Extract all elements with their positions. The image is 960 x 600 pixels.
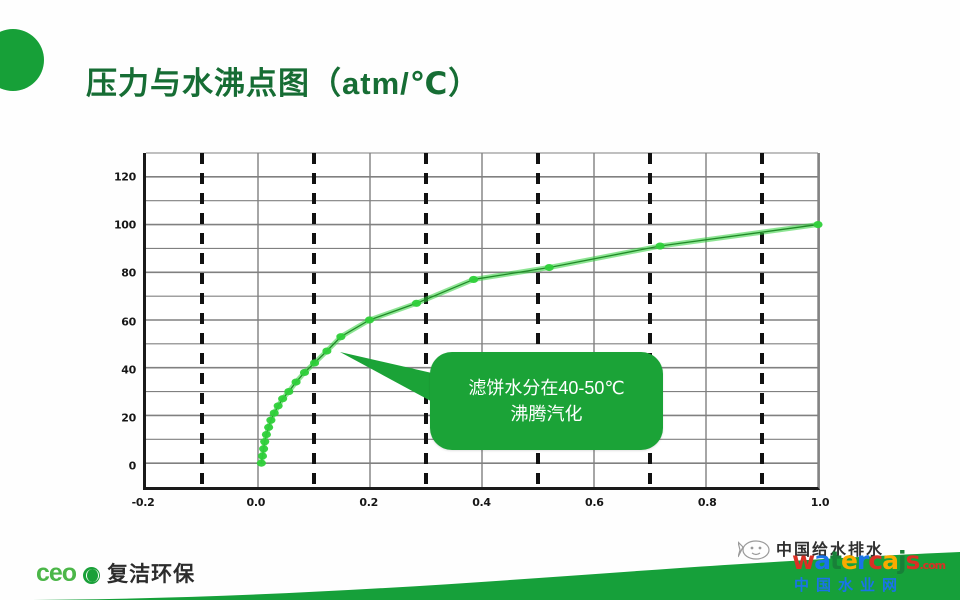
- data-point: [310, 359, 319, 366]
- x-tick-label: 0.0: [247, 496, 266, 509]
- data-point: [266, 417, 275, 424]
- x-tick-label: 0.2: [359, 496, 378, 509]
- data-point: [284, 388, 293, 395]
- y-tick-label: 0: [129, 459, 136, 472]
- annotation-callout: 滤饼水分在40-50℃ 沸腾汽化: [430, 352, 663, 450]
- header-accent-dot: [0, 29, 44, 91]
- x-axis-labels: -0.20.00.20.40.60.81.0: [143, 496, 820, 518]
- data-point: [257, 460, 266, 467]
- watermark-subtitle: 中国水业网: [794, 574, 904, 595]
- mascot-icon: [738, 538, 772, 560]
- watermark-logotype: watercajs.com: [792, 546, 945, 575]
- watermark-letter: t: [830, 546, 841, 575]
- y-tick-label: 60: [121, 315, 136, 328]
- data-point: [545, 264, 554, 271]
- y-tick-label: 80: [121, 267, 136, 280]
- y-axis-labels: 020406080100120: [92, 153, 136, 490]
- watermark-domain: .com: [919, 559, 945, 572]
- logo-mark-text: ceo: [36, 561, 76, 586]
- x-tick-label: 0.4: [472, 496, 491, 509]
- watermark-letter: a: [882, 546, 898, 575]
- data-point: [274, 402, 283, 409]
- page-title: 压力与水沸点图（atm/℃）: [86, 58, 480, 103]
- data-point: [656, 242, 665, 249]
- data-point: [365, 316, 374, 323]
- y-tick-label: 100: [114, 219, 136, 232]
- watermark-letter: s: [906, 546, 920, 575]
- y-tick-label: 20: [121, 411, 136, 424]
- site-watermark: 中国给水排水 watercajs.com 中国水业网: [734, 534, 954, 596]
- watermark-letter: r: [857, 546, 868, 575]
- watermark-letter: w: [792, 546, 814, 575]
- callout-line-2: 沸腾汽化: [511, 401, 583, 427]
- y-tick-label: 120: [114, 171, 136, 184]
- data-point: [264, 424, 273, 431]
- x-tick-label: 0.8: [698, 496, 717, 509]
- data-point: [262, 431, 271, 438]
- data-point: [813, 221, 822, 228]
- data-point: [278, 395, 287, 402]
- data-point: [469, 276, 478, 283]
- company-logo: ceo 复洁环保: [36, 558, 195, 588]
- data-point: [412, 300, 421, 307]
- data-point: [270, 409, 279, 416]
- watermark-letter: j: [898, 546, 906, 575]
- data-point: [322, 347, 331, 354]
- globe-icon: [83, 567, 100, 584]
- data-point: [292, 378, 301, 385]
- data-point: [336, 333, 345, 340]
- data-point: [260, 438, 269, 445]
- x-tick-label: 0.6: [585, 496, 604, 509]
- watermark-letter: c: [868, 546, 882, 575]
- slide-root: 压力与水沸点图（atm/℃） 020406080100120 -0.20.00.…: [0, 0, 960, 600]
- x-tick-label: 1.0: [811, 496, 830, 509]
- callout-line-1: 滤饼水分在40-50℃: [468, 375, 624, 401]
- logo-company-name: 复洁环保: [107, 558, 195, 588]
- watermark-letter: a: [814, 546, 830, 575]
- data-point: [259, 445, 268, 452]
- y-tick-label: 40: [121, 363, 136, 376]
- x-tick-label: -0.2: [132, 496, 155, 509]
- watermark-letter: e: [841, 546, 857, 575]
- data-point: [300, 369, 309, 376]
- data-point: [258, 452, 267, 459]
